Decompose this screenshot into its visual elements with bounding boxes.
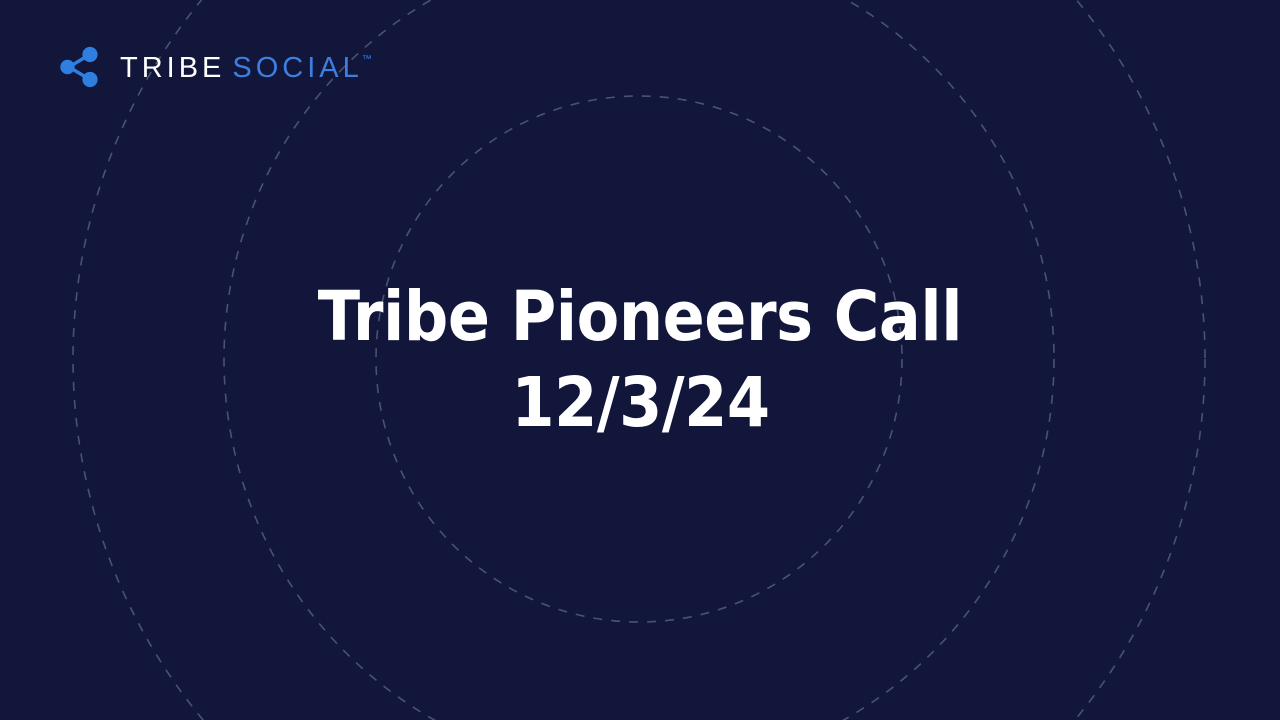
title-line-date: 12/3/24: [511, 360, 769, 446]
slide-title-block: Tribe Pioneers Call 12/3/24: [0, 0, 1280, 720]
title-slide: TRIBE SOCIAL ™ Tribe Pioneers Call 12/3/…: [0, 0, 1280, 720]
title-line-primary: Tribe Pioneers Call: [318, 274, 962, 360]
